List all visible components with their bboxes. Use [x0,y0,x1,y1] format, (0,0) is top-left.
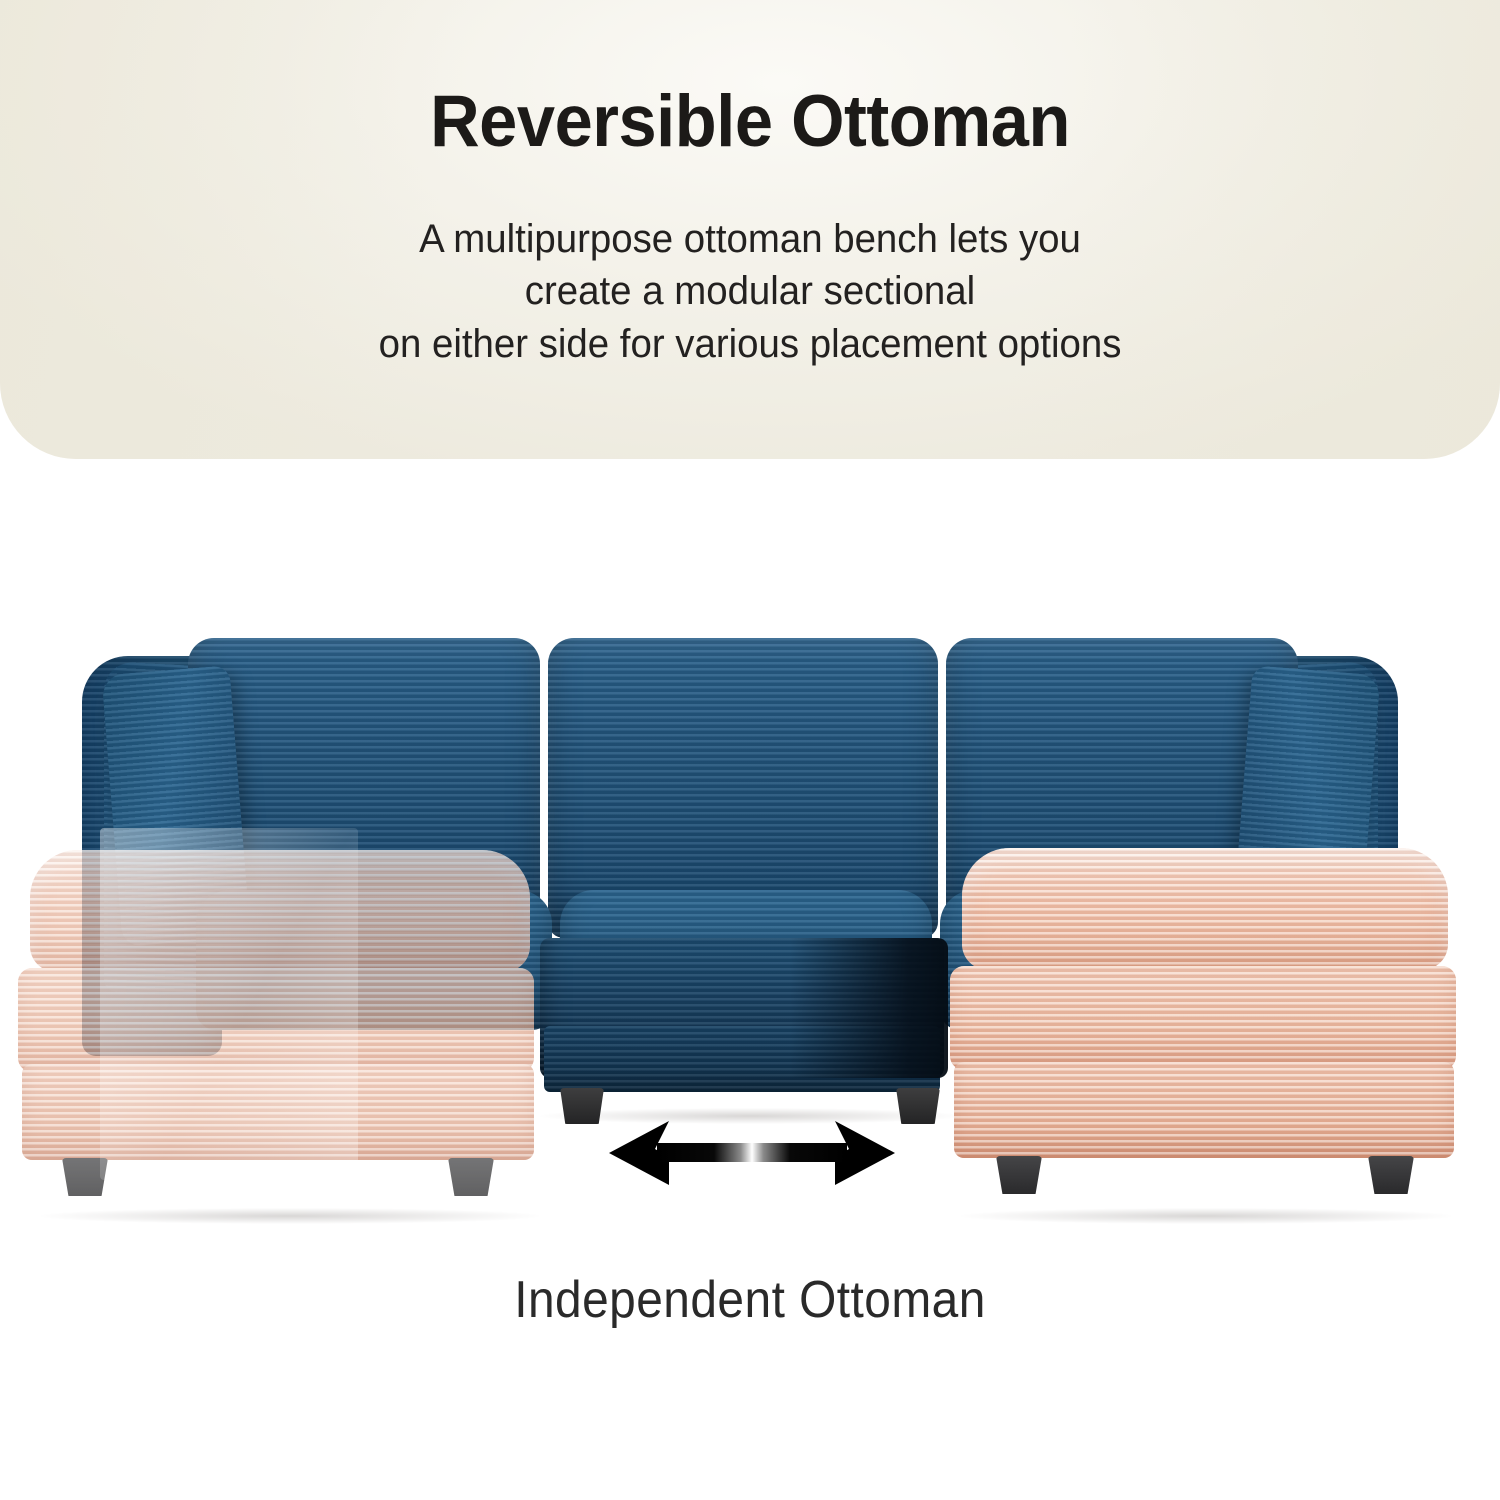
reversible-direction-arrow [607,1113,897,1193]
subtitle-line-3: on either side for various placement opt… [30,318,1470,370]
subtitle-block: A multipurpose ottoman bench lets you cr… [30,213,1470,370]
ottoman-left-top-cushion [30,850,530,972]
ottoman-right-base [954,1062,1454,1158]
sofa-base-shadow [790,938,948,1078]
ottoman-left-foot-2 [448,1158,494,1196]
ottoman-right-placement [948,848,1460,1220]
product-caption: Independent Ottoman [60,1270,1440,1330]
ottoman-left-foot-1 [62,1158,108,1196]
ottoman-right-foot-1 [996,1156,1042,1194]
subtitle-line-2: create a modular sectional [30,265,1470,317]
sofa-foot-left [560,1088,604,1124]
double-arrow-icon [607,1113,897,1193]
page-title: Reversible Ottoman [45,84,1455,161]
ottoman-left-base [22,1064,534,1160]
ottoman-right-foot-2 [1368,1156,1414,1194]
sofa-foot-right [896,1088,940,1124]
ottoman-right-top-cushion [962,848,1448,970]
ottoman-left-seat-block [18,968,534,1072]
product-feature-image: Reversible Ottoman A multipurpose ottoma… [0,0,1500,1500]
ottoman-right-seat-block [950,966,1456,1070]
ottoman-left-placement [18,850,542,1220]
subtitle-line-1: A multipurpose ottoman bench lets you [30,213,1470,265]
